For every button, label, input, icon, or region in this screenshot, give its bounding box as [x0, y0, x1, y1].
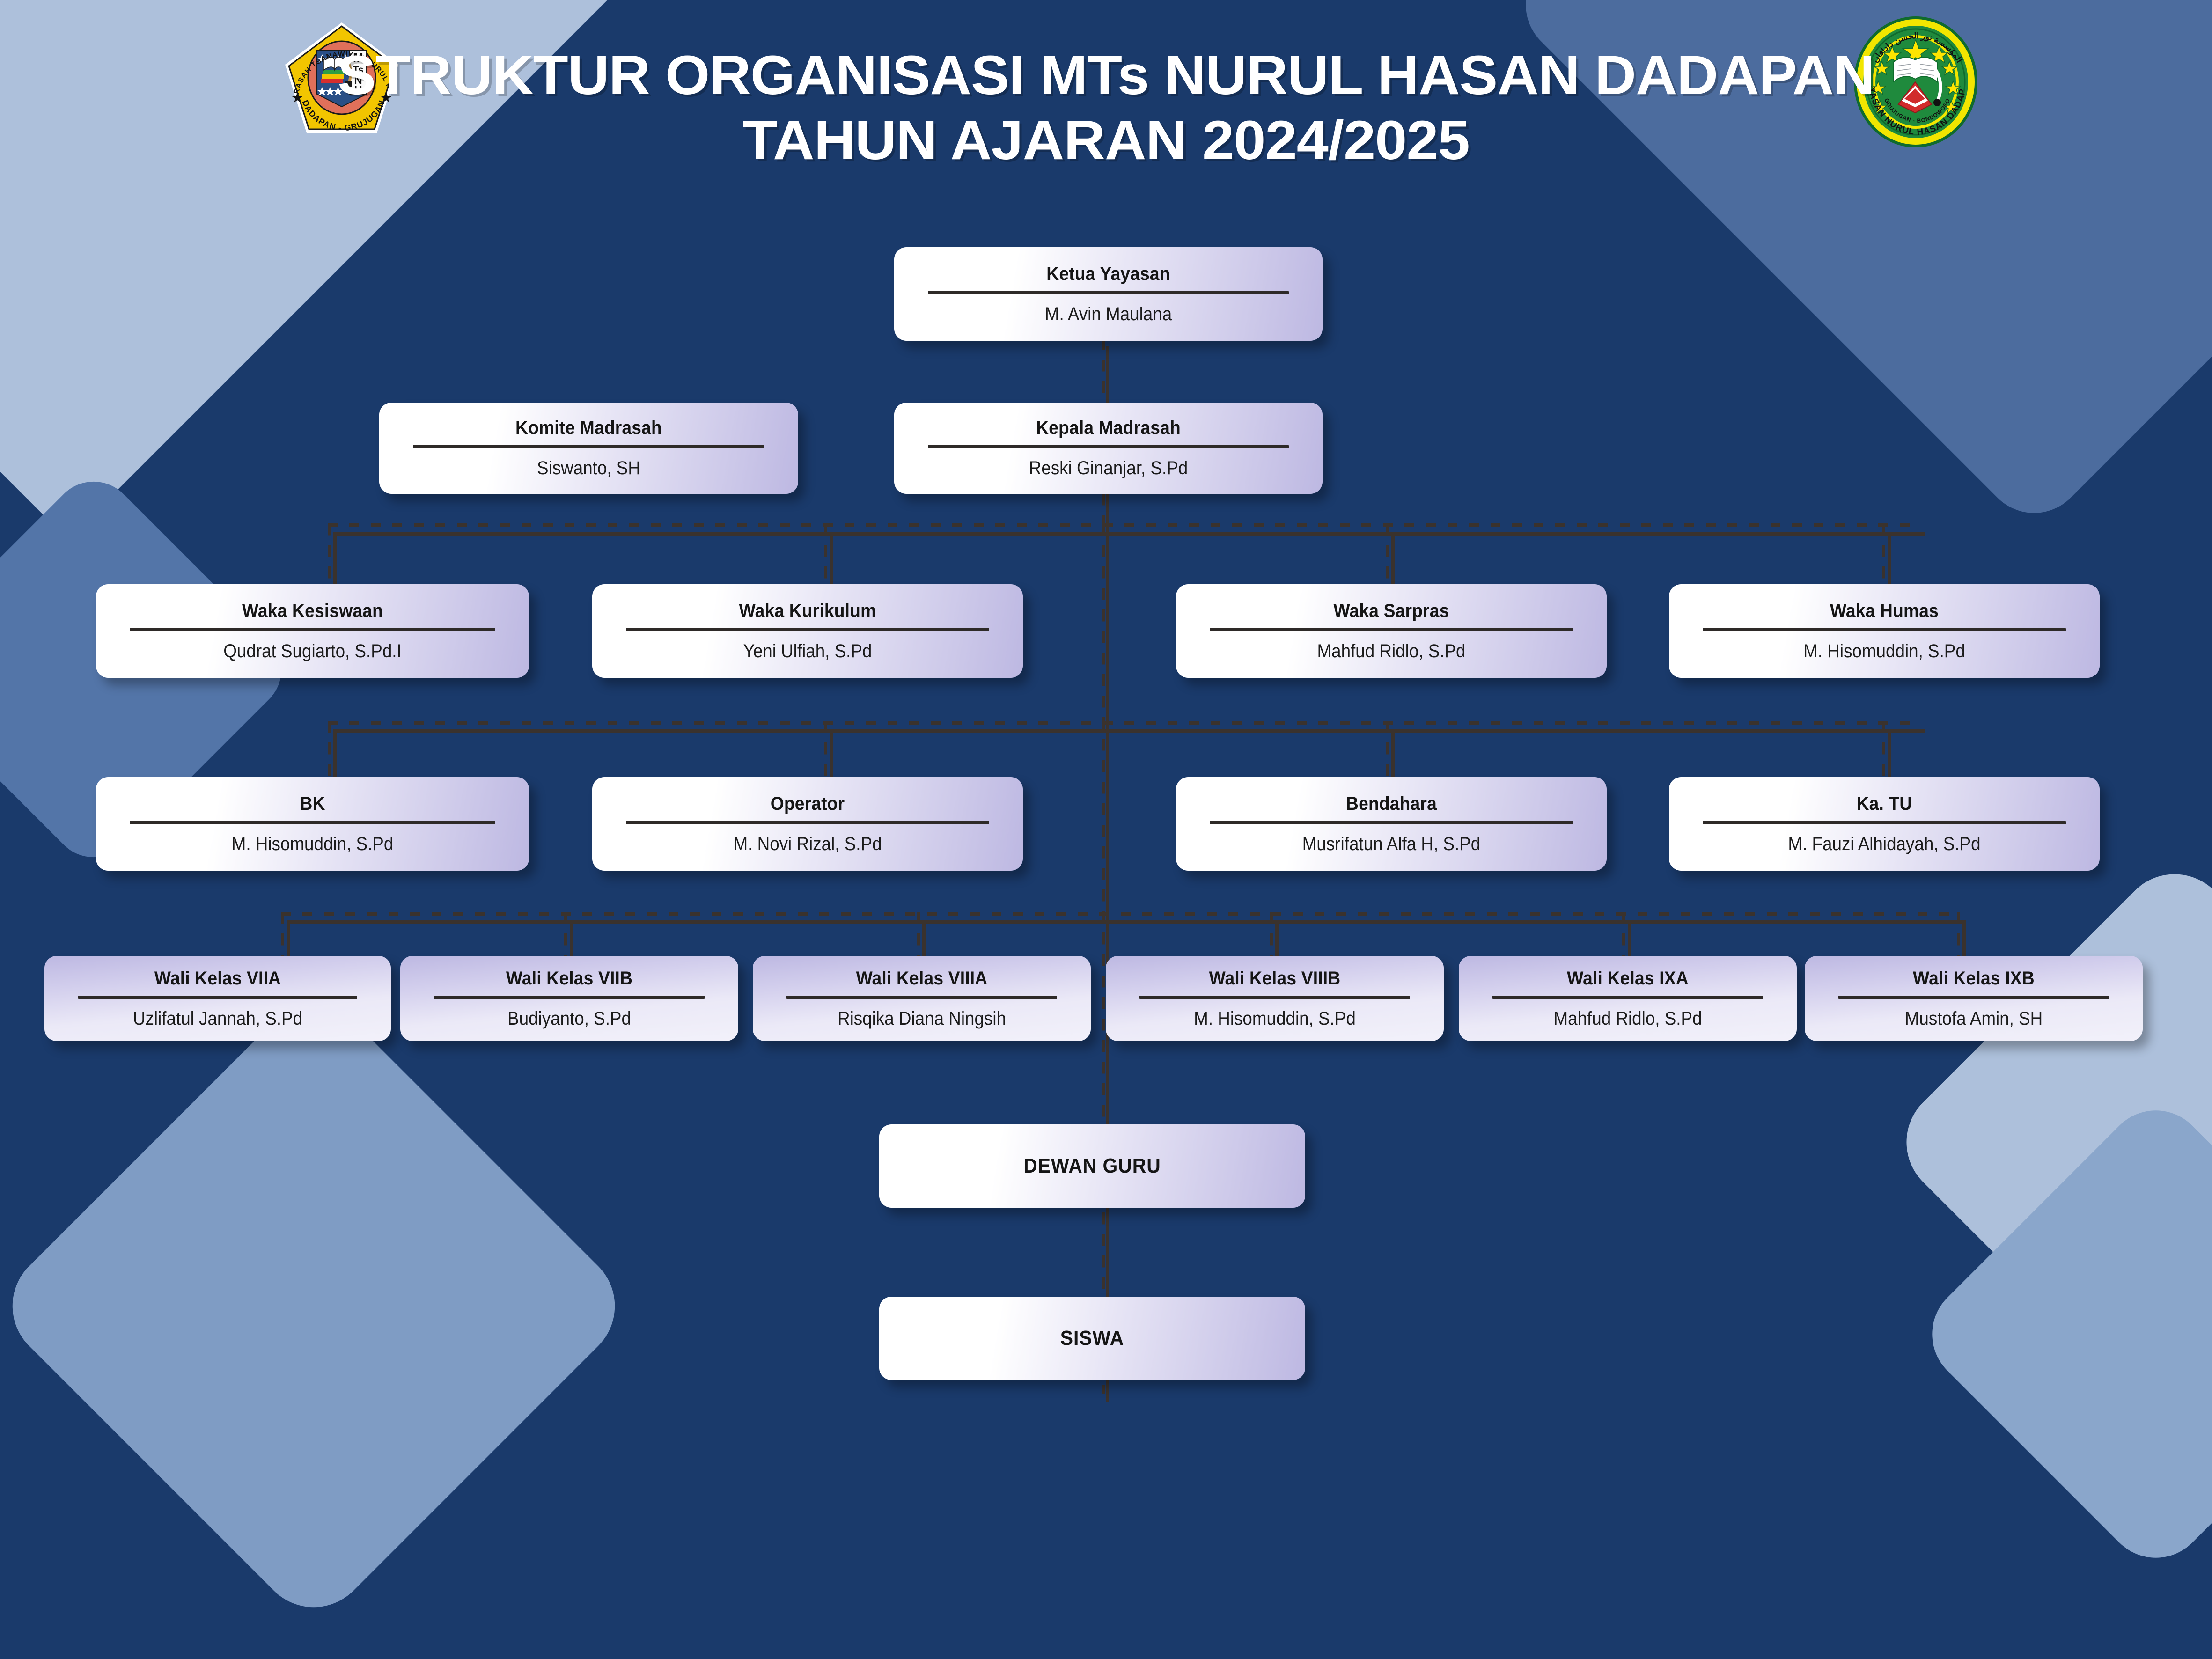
connector: [333, 532, 337, 593]
node-wali-kelas-viib[interactable]: Wali Kelas VIIB Budiyanto, S.Pd: [400, 956, 738, 1041]
node-divider: [1703, 628, 2066, 631]
node-divider: [434, 996, 705, 999]
node-role: Wali Kelas VIIA: [70, 968, 366, 989]
connector: [1391, 532, 1395, 593]
node-person: M. Hisomuddin, S.Pd: [1699, 641, 2069, 662]
node-person: Uzlifatul Jannah, S.Pd: [71, 1008, 364, 1029]
node-person: Mahfud Ridlo, S.Pd: [1485, 1008, 1770, 1029]
node-wali-kelas-ixa[interactable]: Wali Kelas IXA Mahfud Ridlo, S.Pd: [1459, 956, 1797, 1041]
node-person: Yeni Ulfiah, S.Pd: [622, 641, 992, 662]
node-role: SISWA: [907, 1327, 1278, 1350]
node-divider: [130, 628, 495, 631]
node-operator[interactable]: Operator M. Novi Rizal, S.Pd: [592, 777, 1023, 871]
title-line-2: TAHUN AJARAN 2024/2025: [0, 108, 2212, 173]
org-chart: Ketua Yayasan M. Avin Maulana Komite Mad…: [0, 0, 2212, 1659]
node-role: Waka Kesiswaan: [124, 601, 500, 622]
node-ketua-yayasan[interactable]: Ketua Yayasan M. Avin Maulana: [894, 247, 1323, 341]
node-person: Mustofa Amin, SH: [1831, 1008, 2116, 1029]
node-role: Wali Kelas IXA: [1484, 968, 1772, 989]
ghost-line: [328, 523, 331, 580]
node-divider: [626, 628, 989, 631]
node-divider: [626, 821, 989, 824]
page-header: M Ts N H: [0, 0, 2212, 169]
node-divider: [1838, 996, 2109, 999]
node-person: M. Novi Rizal, S.Pd: [622, 834, 992, 855]
node-person: M. Hisomuddin, S.Pd: [1132, 1008, 1417, 1029]
node-person: M. Avin Maulana: [924, 304, 1293, 325]
node-role: Bendahara: [1204, 793, 1579, 815]
node-role: Wali Kelas IXB: [1830, 968, 2118, 989]
node-role: Operator: [620, 793, 995, 815]
node-person: Siswanto, SH: [409, 458, 768, 479]
node-role: DEWAN GURU: [907, 1154, 1278, 1178]
node-divider: [413, 445, 764, 448]
node-role: Waka Humas: [1697, 601, 2072, 622]
node-person: Qudrat Sugiarto, S.Pd.I: [126, 641, 499, 662]
node-divider: [786, 996, 1057, 999]
connector: [1888, 532, 1891, 593]
node-role: Wali Kelas VIIIA: [778, 968, 1066, 989]
connector-bus: [333, 532, 1925, 536]
node-person: Budiyanto, S.Pd: [426, 1008, 712, 1029]
node-role: Ketua Yayasan: [922, 264, 1294, 285]
node-person: M. Fauzi Alhidayah, S.Pd: [1699, 834, 2069, 855]
node-person: Mahfud Ridlo, S.Pd: [1206, 641, 1576, 662]
node-komite-madrasah[interactable]: Komite Madrasah Siswanto, SH: [379, 403, 798, 494]
node-waka-kurikulum[interactable]: Waka Kurikulum Yeni Ulfiah, S.Pd: [592, 584, 1023, 678]
ghost-line: [328, 523, 1919, 527]
node-divider: [1139, 996, 1410, 999]
node-role: Kepala Madrasah: [922, 418, 1294, 439]
title-line-1: STRUKTUR ORGANISASI MTs NURUL HASAN DADA…: [338, 44, 1874, 106]
node-divider: [928, 291, 1289, 294]
node-role: Wali Kelas VIIIB: [1131, 968, 1419, 989]
node-divider: [1703, 821, 2066, 824]
node-person: Reski Ginanjar, S.Pd: [924, 458, 1293, 479]
node-wali-kelas-viiib[interactable]: Wali Kelas VIIIB M. Hisomuddin, S.Pd: [1106, 956, 1444, 1041]
node-wali-kelas-viia[interactable]: Wali Kelas VIIA Uzlifatul Jannah, S.Pd: [44, 956, 391, 1041]
node-divider: [1210, 628, 1573, 631]
node-waka-sarpras[interactable]: Waka Sarpras Mahfud Ridlo, S.Pd: [1176, 584, 1607, 678]
node-divider: [130, 821, 495, 824]
node-divider: [1210, 821, 1573, 824]
ghost-spine: [1102, 523, 1105, 1394]
node-person: Musrifatun Alfa H, S.Pd: [1206, 834, 1576, 855]
ghost-line: [328, 721, 331, 777]
node-kepala-madrasah[interactable]: Kepala Madrasah Reski Ginanjar, S.Pd: [894, 403, 1323, 494]
node-role: Wali Kelas VIIB: [425, 968, 713, 989]
node-wali-kelas-viiia[interactable]: Wali Kelas VIIIA Risqika Diana Ningsih: [753, 956, 1091, 1041]
node-wali-kelas-ixb[interactable]: Wali Kelas IXB Mustofa Amin, SH: [1805, 956, 2143, 1041]
node-role: BK: [124, 793, 500, 815]
node-siswa[interactable]: SISWA: [879, 1297, 1305, 1380]
node-waka-humas[interactable]: Waka Humas M. Hisomuddin, S.Pd: [1669, 584, 2100, 678]
connector-bus: [333, 729, 1925, 733]
connector: [1106, 488, 1109, 535]
node-divider: [78, 996, 357, 999]
page-title: STRUKTUR ORGANISASI MTs NURUL HASAN DADA…: [0, 43, 2212, 173]
node-person: Risqika Diana Ningsih: [779, 1008, 1064, 1029]
node-divider: [928, 445, 1289, 448]
node-divider: [1492, 996, 1763, 999]
node-bendahara[interactable]: Bendahara Musrifatun Alfa H, S.Pd: [1176, 777, 1607, 871]
connector: [830, 532, 833, 593]
node-role: Waka Kurikulum: [620, 601, 995, 622]
node-person: M. Hisomuddin, S.Pd: [126, 834, 499, 855]
node-bk[interactable]: BK M. Hisomuddin, S.Pd: [96, 777, 529, 871]
node-waka-kesiswaan[interactable]: Waka Kesiswaan Qudrat Sugiarto, S.Pd.I: [96, 584, 529, 678]
node-role: Waka Sarpras: [1204, 601, 1579, 622]
node-role: Komite Madrasah: [407, 418, 771, 439]
ghost-line: [281, 912, 1957, 916]
node-ka-tu[interactable]: Ka. TU M. Fauzi Alhidayah, S.Pd: [1669, 777, 2100, 871]
node-dewan-guru[interactable]: DEWAN GURU: [879, 1124, 1305, 1208]
ghost-line: [328, 721, 1919, 725]
connector-bus: [287, 920, 1962, 924]
node-role: Ka. TU: [1697, 793, 2072, 815]
